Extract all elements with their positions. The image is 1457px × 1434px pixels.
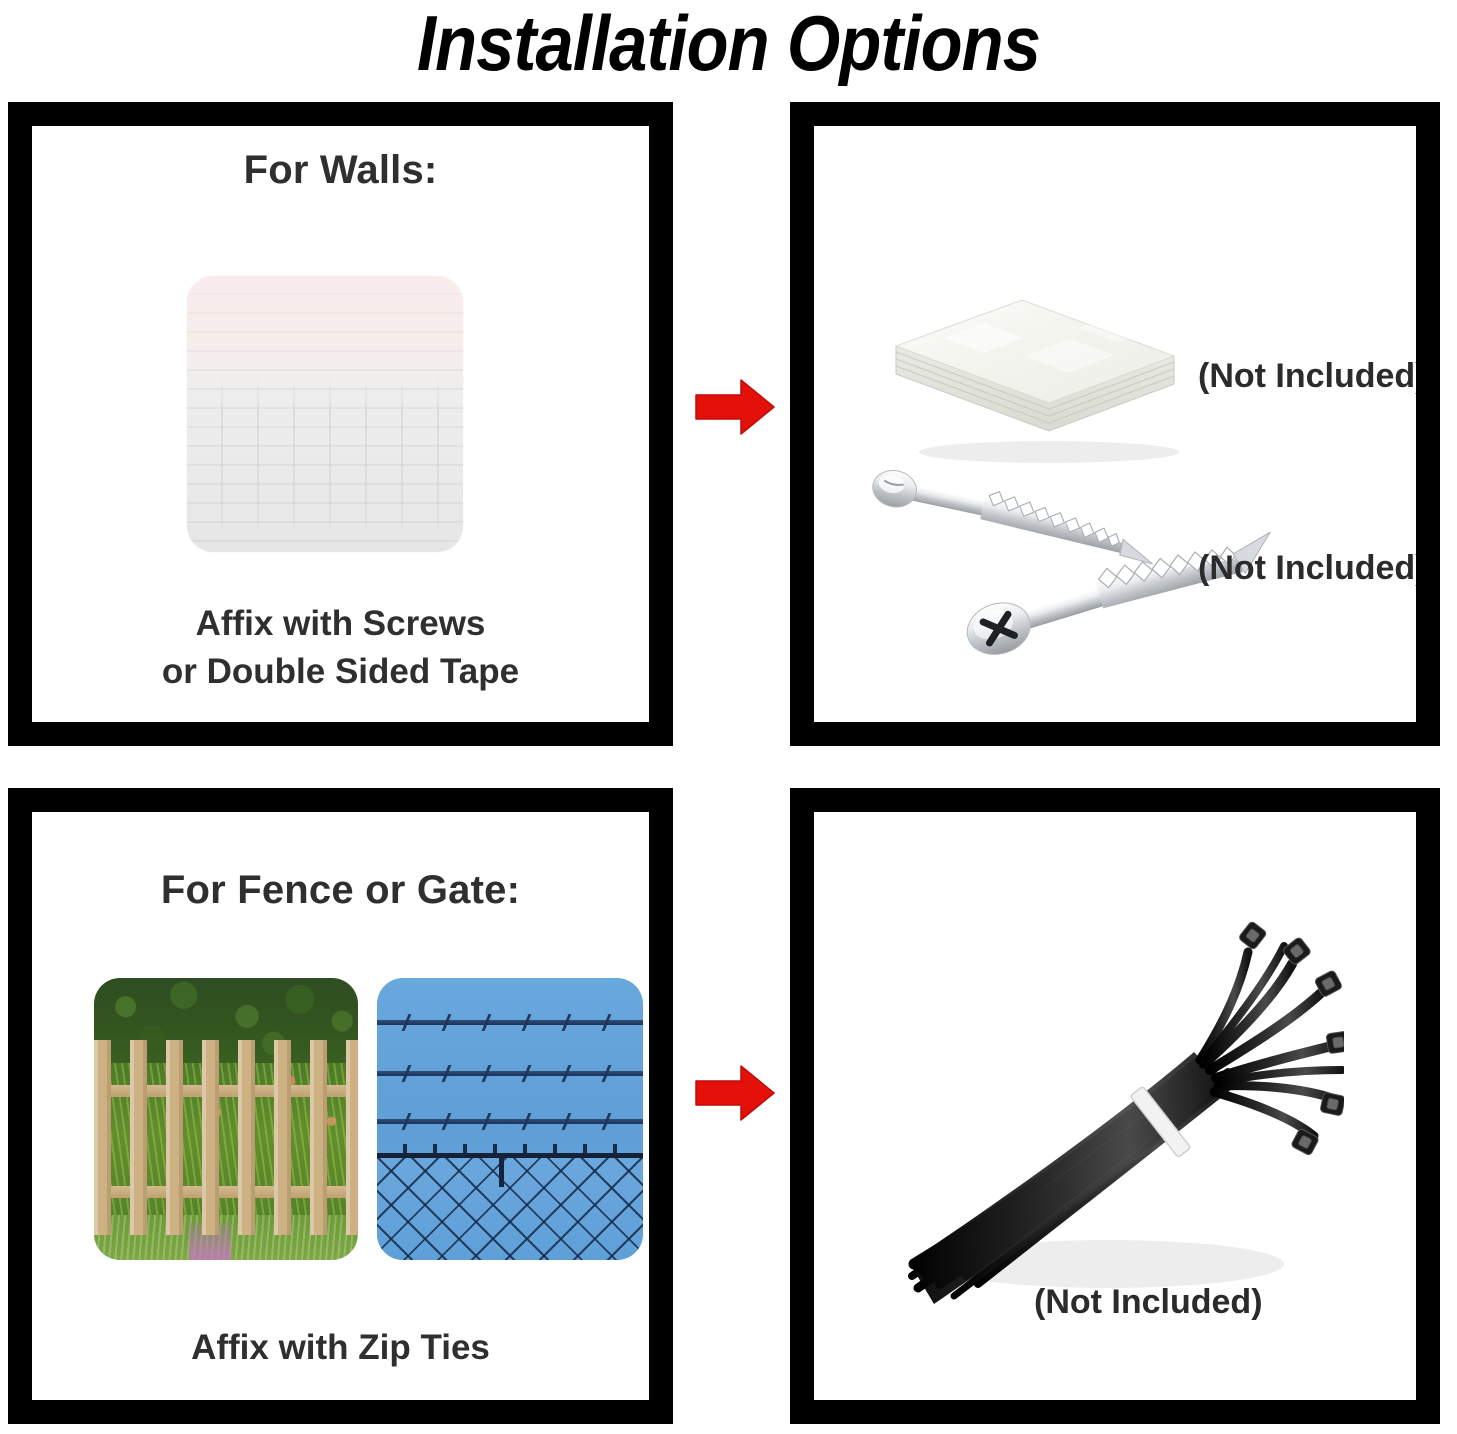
barbed-wire-strand-3: [377, 1119, 643, 1124]
wood-screw-lower-image: [934, 526, 1284, 661]
fence-post: [499, 1153, 504, 1187]
fence-picket-shading: [94, 1040, 358, 1235]
panel-zip-ties: (Not Included): [790, 788, 1440, 1424]
for-walls-caption-line-2: or Double Sided Tape: [32, 648, 649, 696]
red-arrow-right-icon-bottom: [694, 1063, 776, 1123]
screws-not-included-label: (Not Included): [1198, 549, 1416, 588]
red-arrow-right-icon-top: [694, 377, 776, 437]
panel-for-fence-or-gate-content: For Fence or Gate: Affix with Zip: [32, 812, 649, 1400]
panel-for-walls: For Walls: Affix with Screws or Double S…: [8, 102, 673, 746]
chain-link-mesh: [377, 1158, 643, 1260]
panel-wall-hardware-content: (Not Included): [814, 126, 1416, 722]
tape-not-included-label: (Not Included): [1198, 357, 1416, 396]
barbed-wire-strand-1: [377, 1020, 643, 1025]
panel-zip-ties-content: (Not Included): [814, 812, 1416, 1400]
wooden-picket-fence-image: [94, 978, 358, 1260]
white-brick-wall-image: [187, 276, 463, 552]
for-walls-caption-line-1: Affix with Screws: [32, 600, 649, 648]
panel-wall-hardware: (Not Included): [790, 102, 1440, 746]
chain-link-fence-image: [377, 978, 643, 1260]
panel-for-walls-content: For Walls: Affix with Screws or Double S…: [32, 126, 649, 722]
page-title: Installation Options: [87, 0, 1369, 91]
barbed-wire-strand-2: [377, 1071, 643, 1076]
double-sided-tape-stack-image: [874, 256, 1204, 471]
panel-for-fence-or-gate: For Fence or Gate: Affix with Zip: [8, 788, 673, 1424]
for-fence-heading: For Fence or Gate:: [32, 868, 649, 913]
black-zip-tie-bundle-image: [874, 912, 1344, 1332]
wall-light-wash: [187, 276, 463, 552]
for-fence-caption: Affix with Zip Ties: [32, 1324, 649, 1372]
zip-ties-not-included-label: (Not Included): [1034, 1283, 1263, 1322]
for-walls-heading: For Walls:: [32, 148, 649, 193]
